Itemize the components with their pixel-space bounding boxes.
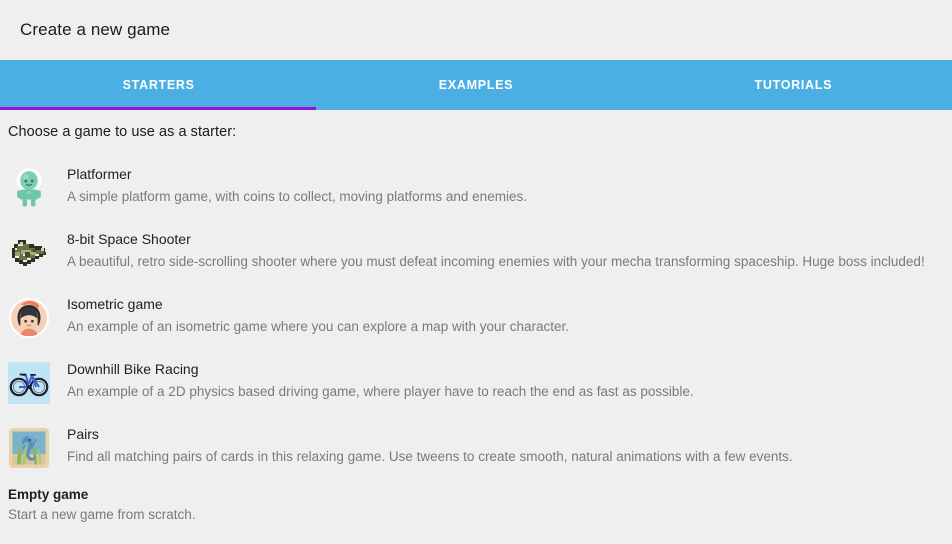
starter-text: Platformer A simple platform game, with … [67, 164, 944, 207]
empty-game-description: Start a new game from scratch. [8, 505, 944, 525]
tab-starters[interactable]: STARTERS [0, 60, 317, 110]
character-avatar-icon [8, 297, 50, 339]
starter-description: An example of a 2D physics based driving… [67, 382, 944, 402]
spaceship-pixel-icon [8, 232, 50, 274]
platformer-alien-icon [8, 167, 50, 209]
starter-icon-cell [8, 229, 67, 274]
starter-icon-cell [8, 164, 67, 209]
starter-text: 8-bit Space Shooter A beautiful, retro s… [67, 229, 944, 272]
bicycle-icon [8, 362, 50, 404]
starter-text: Isometric game An example of an isometri… [67, 294, 944, 337]
tab-examples-label: EXAMPLES [439, 78, 513, 92]
starter-name: Downhill Bike Racing [67, 360, 944, 379]
starter-description: Find all matching pairs of cards in this… [67, 447, 944, 467]
starter-name: Pairs [67, 425, 944, 444]
choose-starter-label: Choose a game to use as a starter: [8, 110, 944, 150]
tab-starters-label: STARTERS [123, 78, 195, 92]
starters-panel: Choose a game to use as a starter: [0, 110, 952, 544]
starter-text: Pairs Find all matching pairs of cards i… [67, 424, 944, 467]
tab-bar: STARTERS EXAMPLES TUTORIALS [0, 60, 952, 110]
seahorse-card-icon [8, 427, 50, 469]
list-item[interactable]: Pairs Find all matching pairs of cards i… [8, 424, 944, 469]
starter-list: Platformer A simple platform game, with … [8, 164, 944, 525]
starter-description: An example of an isometric game where yo… [67, 317, 944, 337]
starter-icon-cell [8, 359, 67, 404]
tab-tutorials[interactable]: TUTORIALS [635, 60, 952, 110]
starter-name: 8-bit Space Shooter [67, 230, 944, 249]
list-item-empty-game[interactable]: Empty game Start a new game from scratch… [8, 485, 944, 525]
starter-text: Downhill Bike Racing An example of a 2D … [67, 359, 944, 402]
empty-game-name: Empty game [8, 485, 944, 504]
starter-description: A simple platform game, with coins to co… [67, 187, 944, 207]
list-item[interactable]: Isometric game An example of an isometri… [8, 294, 944, 339]
list-item[interactable]: 8-bit Space Shooter A beautiful, retro s… [8, 229, 944, 274]
list-item[interactable]: Downhill Bike Racing An example of a 2D … [8, 359, 944, 404]
list-item[interactable]: Platformer A simple platform game, with … [8, 164, 944, 209]
starter-name: Isometric game [67, 295, 944, 314]
starter-icon-cell [8, 294, 67, 339]
starter-name: Platformer [67, 165, 944, 184]
active-tab-indicator [0, 107, 316, 110]
dialog-header: Create a new game [0, 0, 952, 60]
tab-tutorials-label: TUTORIALS [755, 78, 833, 92]
page-title: Create a new game [20, 20, 170, 40]
tab-examples[interactable]: EXAMPLES [317, 60, 634, 110]
starter-icon-cell [8, 424, 67, 469]
starter-description: A beautiful, retro side-scrolling shoote… [67, 252, 944, 272]
